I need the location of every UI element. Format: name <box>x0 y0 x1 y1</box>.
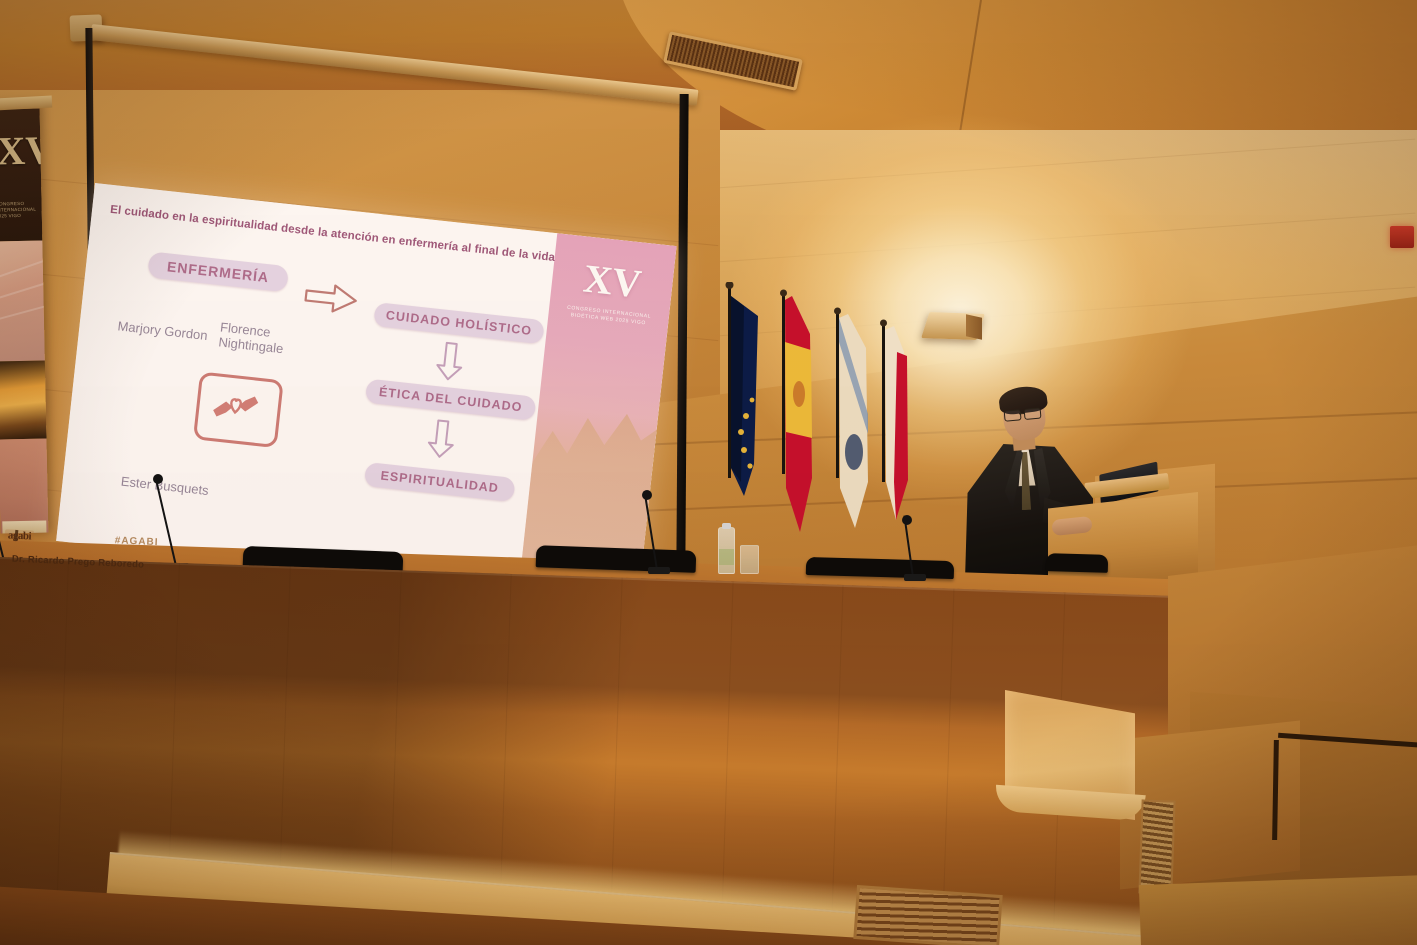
banner-logo-text: XV <box>0 125 41 186</box>
slide-pill-etica-del-cuidado: ÉTICA DEL CUIDADO <box>365 379 537 421</box>
slide-pill-enfermeria: ENFERMERÍA <box>147 251 289 292</box>
mic-head-icon <box>642 490 652 500</box>
floor-ventilation-grille-icon <box>853 885 1002 945</box>
drinking-glass <box>740 545 759 574</box>
wall-sconce-arm <box>966 314 982 339</box>
banner-subtitle: CONGRESO INTERNACIONAL 2025 VIGO <box>0 201 42 220</box>
slide-pill-cuidado-holistico: CUIDADO HOLÍSTICO <box>373 302 545 344</box>
water-bottle <box>718 527 735 574</box>
bottle-label <box>719 549 734 565</box>
mic-head-icon <box>902 515 912 525</box>
bottle-cap <box>722 523 731 529</box>
auditorium-scene: XV CONGRESO INTERNACIONAL 2025 VIGO XV C… <box>0 0 1417 945</box>
banner-header: XV CONGRESO INTERNACIONAL 2025 VIGO <box>0 109 42 242</box>
arrow-right-icon <box>300 278 361 318</box>
side-ventilation-grille-icon <box>1138 799 1175 894</box>
mic-head-icon <box>153 474 163 484</box>
banner-image-2 <box>0 360 47 439</box>
emergency-exit-light-icon <box>1390 226 1414 248</box>
hands-holding-heart-icon <box>193 371 284 448</box>
slide-name-florence-nightingale: Florence Nightingale <box>218 319 295 357</box>
right-floor-band <box>1139 875 1417 945</box>
nameplate-speaker-name: Dr. Ricardo Prego Reboredo <box>12 554 145 571</box>
chair-4 <box>1046 553 1108 573</box>
banner-image-3 <box>0 438 48 533</box>
nameplate-hashtag: #AGABI <box>115 535 159 548</box>
arrow-down-icon-2 <box>424 416 458 461</box>
flag-eu <box>726 282 759 496</box>
agabi-logo: agabi <box>5 529 35 542</box>
slide-name-ester-busquets: Ester Busquets <box>120 474 251 503</box>
flag-galicia <box>834 308 868 529</box>
mic-base <box>904 574 926 581</box>
mic-base <box>648 567 670 574</box>
slide-pill-espiritualidad: ESPIRITUALIDAD <box>364 462 516 502</box>
flag-vigo <box>880 320 908 521</box>
flag-spain <box>780 290 812 533</box>
arrow-down-icon-1 <box>433 339 467 384</box>
nameplate: agabi #AGABI Dr. Ricardo Prego Reboredo <box>0 525 225 590</box>
banner-image-1 <box>0 241 45 362</box>
